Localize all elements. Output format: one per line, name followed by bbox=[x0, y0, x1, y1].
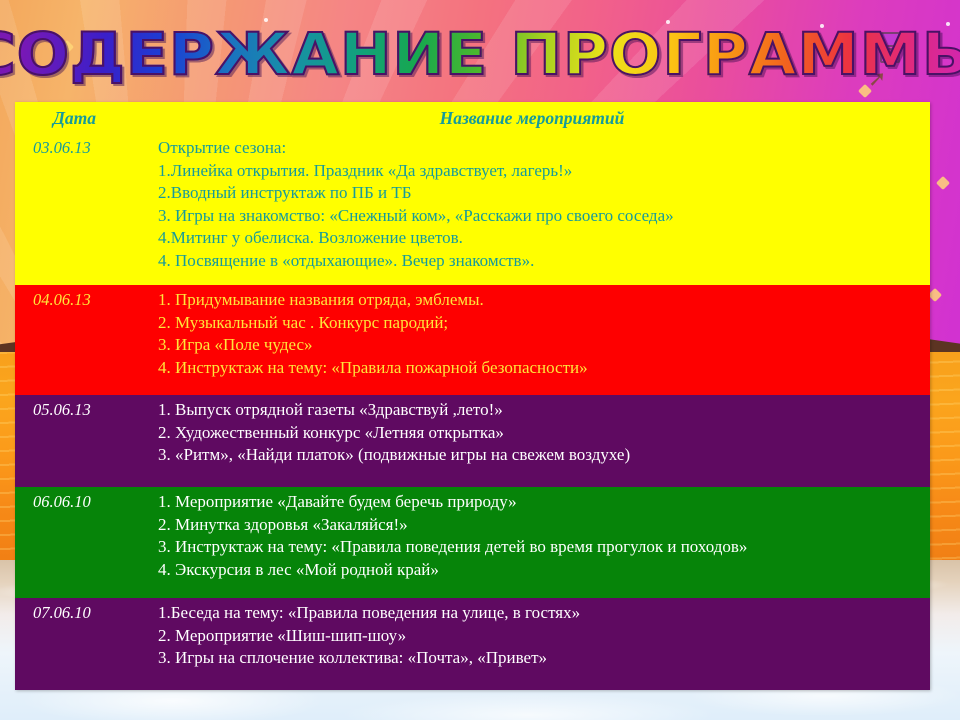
event-line: 1. Придумывание названия отряда, эмблемы… bbox=[158, 289, 924, 312]
event-line: 3. Игра «Поле чудес» bbox=[158, 334, 924, 357]
cell-events: 1. Придумывание названия отряда, эмблемы… bbox=[140, 285, 930, 395]
table-row: 04.06.13 1. Придумывание названия отряда… bbox=[15, 285, 930, 395]
table-header-row: Дата Название мероприятий bbox=[15, 102, 930, 133]
program-schedule-table: Дата Название мероприятий 03.06.13 Откры… bbox=[15, 102, 930, 690]
event-line: 3. Инструктаж на тему: «Правила поведени… bbox=[158, 536, 924, 559]
event-line: 3. Игры на знакомство: «Снежный ком», «Р… bbox=[158, 205, 924, 228]
cell-date: 07.06.10 bbox=[15, 598, 140, 690]
schedule-body: Дата Название мероприятий 03.06.13 Откры… bbox=[15, 102, 930, 690]
cell-date: 06.06.10 bbox=[15, 487, 140, 598]
event-line: 2.Вводный инструктаж по ПБ и ТБ bbox=[158, 182, 924, 205]
column-header-name: Название мероприятий bbox=[140, 102, 930, 133]
event-line: 3. Игры на сплочение коллектива: «Почта»… bbox=[158, 647, 924, 670]
cell-events: 1. Мероприятие «Давайте будем беречь при… bbox=[140, 487, 930, 598]
event-line: Открытие сезона: bbox=[158, 137, 924, 160]
page-title: СОДЕРЖАНИЕ ПРОГРАММЫ: bbox=[0, 14, 960, 94]
event-line: 2. Художественный конкурс «Летняя открыт… bbox=[158, 422, 924, 445]
cell-date: 03.06.13 bbox=[15, 133, 140, 285]
event-line: 4. Посвящение в «отдыхающие». Вечер знак… bbox=[158, 250, 924, 273]
table-row: 07.06.10 1.Беседа на тему: «Правила пове… bbox=[15, 598, 930, 690]
cell-events: 1.Беседа на тему: «Правила поведения на … bbox=[140, 598, 930, 690]
event-line: 4.Митинг у обелиска. Возложение цветов. bbox=[158, 227, 924, 250]
table-row: 05.06.13 1. Выпуск отрядной газеты «Здра… bbox=[15, 395, 930, 487]
event-line: 4. Экскурсия в лес «Мой родной край» bbox=[158, 559, 924, 582]
event-line: 2. Минутка здоровья «Закаляйся!» bbox=[158, 514, 924, 537]
cell-date: 05.06.13 bbox=[15, 395, 140, 487]
cell-events: 1. Выпуск отрядной газеты «Здравствуй ,л… bbox=[140, 395, 930, 487]
event-line: 4. Инструктаж на тему: «Правила пожарной… bbox=[158, 357, 924, 380]
cell-events: Открытие сезона: 1.Линейка открытия. Пра… bbox=[140, 133, 930, 285]
event-line: 1. Выпуск отрядной газеты «Здравствуй ,л… bbox=[158, 399, 924, 422]
event-line: 1. Мероприятие «Давайте будем беречь при… bbox=[158, 491, 924, 514]
cell-date: 04.06.13 bbox=[15, 285, 140, 395]
event-line: 2. Мероприятие «Шиш-шип-шоу» bbox=[158, 625, 924, 648]
event-line: 3. «Ритм», «Найди платок» (подвижные игр… bbox=[158, 444, 924, 467]
table-row: 06.06.10 1. Мероприятие «Давайте будем б… bbox=[15, 487, 930, 598]
table-row: 03.06.13 Открытие сезона: 1.Линейка откр… bbox=[15, 133, 930, 285]
page-title-container: СОДЕРЖАНИЕ ПРОГРАММЫ: bbox=[0, 14, 960, 96]
event-line: 2. Музыкальный час . Конкурс пародий; bbox=[158, 312, 924, 335]
event-line: 1.Беседа на тему: «Правила поведения на … bbox=[158, 602, 924, 625]
column-header-date: Дата bbox=[15, 102, 140, 133]
event-line: 1.Линейка открытия. Праздник «Да здравст… bbox=[158, 160, 924, 183]
